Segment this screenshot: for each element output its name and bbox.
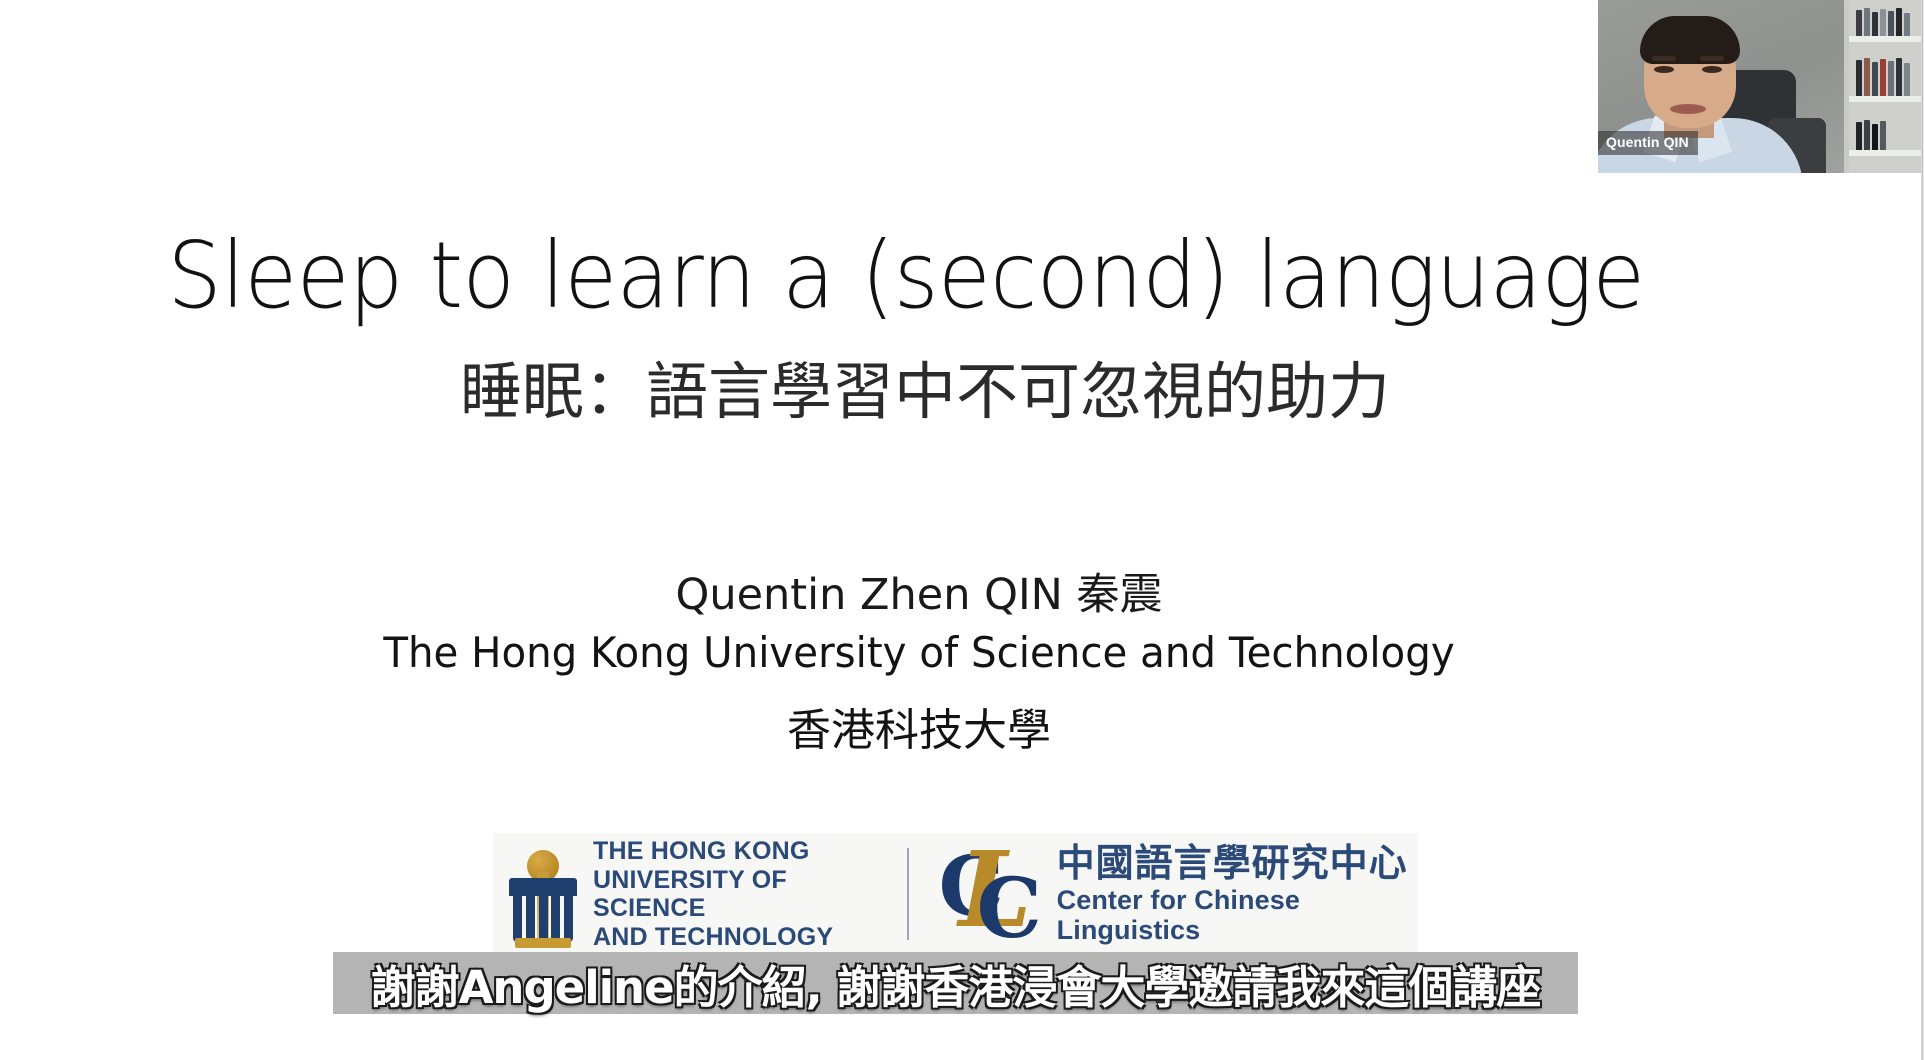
ccl-logo-text-chinese: 中國語言學研究中心 — [1057, 843, 1418, 884]
video-books — [1856, 120, 1886, 150]
video-books — [1856, 8, 1910, 36]
video-speaker-eyebrow-left — [1652, 56, 1676, 61]
participant-name-badge: Quentin QIN — [1598, 131, 1698, 155]
hkust-base-icon — [515, 938, 571, 948]
hkust-columns-icon — [513, 894, 573, 942]
caption-text: 謝謝Angeline的介紹, 謝謝香港浸會大學邀請我來這個講座 — [371, 951, 1541, 1016]
affiliation-chinese: 香港科技大學 — [0, 694, 1838, 758]
caption-bar: 謝謝Angeline的介紹, 謝謝香港浸會大學邀請我來這個講座 — [333, 952, 1578, 1014]
ccl-monogram-icon: C L C — [939, 842, 1047, 946]
video-speaker-mouth — [1670, 104, 1706, 114]
speaker-video-tile[interactable]: Quentin QIN — [1598, 0, 1924, 173]
ccl-logo: C L C 中國語言學研究中心 Center for Chinese Lingu… — [939, 833, 1418, 955]
video-shelf-board — [1849, 36, 1924, 42]
hkust-emblem-icon — [507, 842, 579, 946]
affiliation-english: The Hong Kong University of Science and … — [37, 628, 1801, 677]
slide-title: Sleep to learn a (second) language — [63, 228, 1748, 325]
video-speaker-eye-left — [1654, 66, 1674, 73]
video-books — [1856, 58, 1910, 96]
video-shelf-board — [1849, 96, 1924, 102]
video-shelf-board — [1849, 150, 1924, 156]
video-speaker-eye-right — [1702, 66, 1722, 73]
video-speaker-eyebrow-right — [1700, 56, 1724, 61]
logo-strip: THE HONG KONG UNIVERSITY OF SCIENCE AND … — [493, 833, 1418, 955]
author-name: Quentin Zhen QIN 秦震 — [0, 560, 1838, 622]
hkust-logo: THE HONG KONG UNIVERSITY OF SCIENCE AND … — [493, 833, 881, 955]
slide-subtitle: 睡眠：語言學習中不可忽視的助力 — [0, 358, 1850, 426]
presentation-screen: Sleep to learn a (second) language 睡眠：語言… — [0, 0, 1924, 1060]
logo-divider — [907, 848, 909, 940]
hkust-logo-text: THE HONG KONG UNIVERSITY OF SCIENCE AND … — [593, 837, 881, 951]
ccl-logo-text-english: Center for Chinese Linguistics — [1057, 886, 1418, 945]
